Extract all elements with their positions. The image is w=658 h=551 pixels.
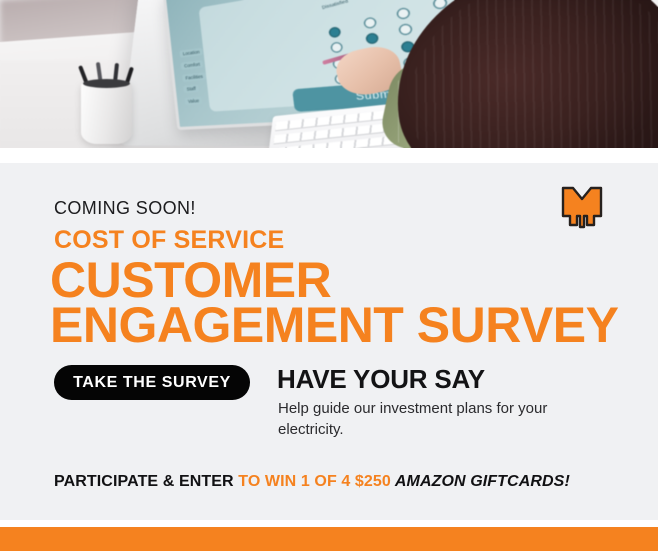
prize-value: TO WIN 1 OF 4 $250 — [238, 473, 391, 490]
have-your-say-heading: HAVE YOUR SAY — [277, 364, 485, 395]
kicker-text: COMING SOON! — [54, 198, 196, 219]
promo-body: COMING SOON! COST OF SERVICE CUSTOMER EN… — [0, 163, 658, 520]
footer-gap — [0, 520, 658, 527]
prize-entry-line: PARTICIPATE & ENTER TO WIN 1 OF 4 $250 A… — [54, 473, 570, 491]
survey-row-label: Staff — [183, 85, 199, 93]
survey-row-label: Comfort — [181, 60, 203, 70]
photo-divider — [0, 148, 658, 163]
survey-row-label: Value — [185, 97, 203, 105]
survey-row-label: Location — [180, 48, 203, 58]
prize-giftcards-label: AMAZON GIFTCARDS! — [395, 473, 570, 490]
survey-row-label: Facilities — [182, 72, 206, 82]
footer-accent-bar — [0, 527, 658, 551]
pen-cup — [81, 82, 132, 144]
prize-lead: PARTICIPATE & ENTER — [54, 473, 234, 490]
utility-m-logo — [560, 185, 604, 233]
have-your-say-body: Help guide our investment plans for your… — [278, 398, 588, 440]
take-the-survey-button[interactable]: TAKE THE SURVEY — [54, 365, 250, 400]
page-title: CUSTOMER ENGAGEMENT SURVEY — [50, 258, 618, 348]
hero-photo: Survey Dissatisfied Good Average Poor Ve… — [0, 0, 658, 148]
promo-card: Survey Dissatisfied Good Average Poor Ve… — [0, 0, 658, 551]
subheadline: COST OF SERVICE — [54, 226, 284, 255]
